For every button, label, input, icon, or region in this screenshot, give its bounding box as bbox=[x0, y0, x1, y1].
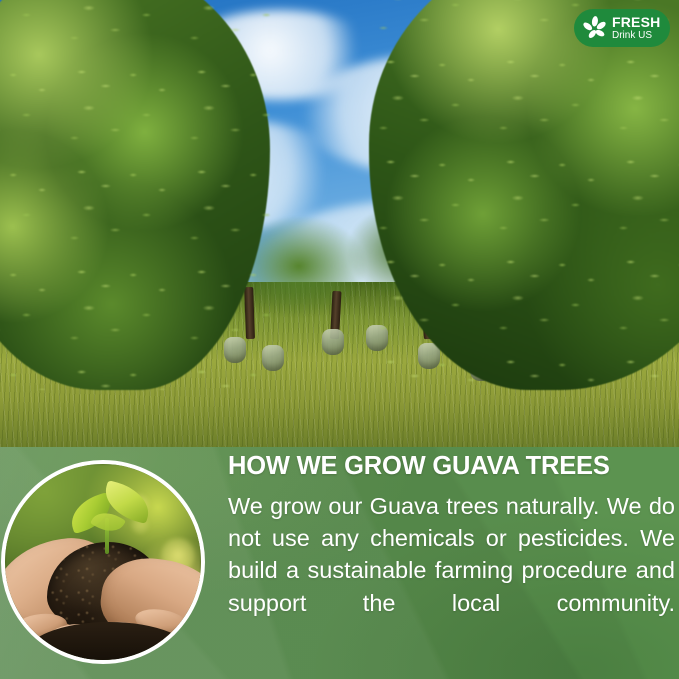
leaf-cluster-icon bbox=[581, 15, 608, 42]
page-title: HOW WE GROW GUAVA TREES bbox=[228, 452, 675, 481]
foliage-texture bbox=[0, 0, 270, 390]
body-paragraph: We grow our Guava trees naturally. We do… bbox=[228, 490, 675, 652]
info-text-block: HOW WE GROW GUAVA TREES We grow our Guav… bbox=[228, 452, 675, 652]
product-infographic-canvas: FRESH Drink US HOW WE GROW GUAVA TREES W… bbox=[0, 0, 679, 679]
guava-tree-canopy-right bbox=[369, 0, 679, 390]
brand-name-primary: FRESH bbox=[612, 15, 660, 29]
brand-logo-text: FRESH Drink US bbox=[612, 15, 660, 41]
foliage-texture bbox=[369, 0, 679, 390]
bagged-fruit bbox=[322, 329, 344, 355]
hero-orchard-photo: FRESH Drink US bbox=[0, 0, 679, 447]
brand-name-secondary: Drink US bbox=[612, 31, 660, 41]
brand-logo-badge[interactable]: FRESH Drink US bbox=[574, 9, 670, 47]
guava-tree-canopy-left bbox=[0, 0, 270, 390]
seedling-circle-photo bbox=[1, 460, 205, 664]
